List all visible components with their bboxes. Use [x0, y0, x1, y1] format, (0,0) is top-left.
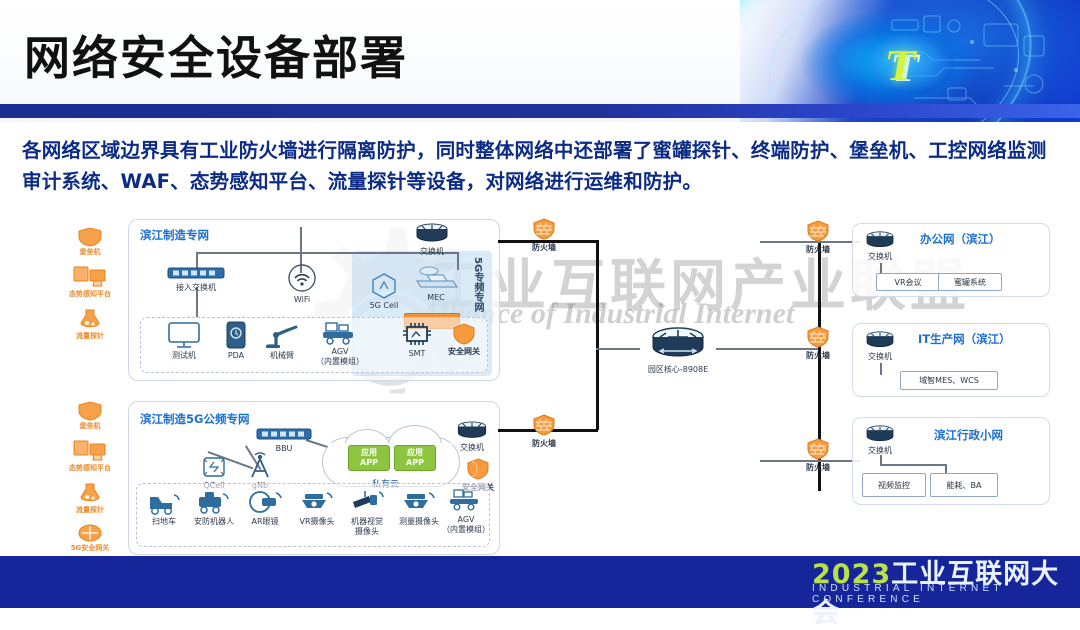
admin-switch: 交换机	[858, 425, 902, 456]
cell-icon	[371, 273, 397, 299]
endpoint-gateway-zone1-label: 安全网关	[448, 347, 480, 357]
gateway-orange-icon	[78, 523, 102, 543]
node-access-switch-label: 接入交换机	[176, 283, 216, 293]
probe-orange-icon	[78, 483, 102, 505]
it-item-0: 域智MES、WCS	[900, 371, 998, 390]
endpoint-ar-glasses: AR眼镜	[240, 489, 290, 527]
endpoint-agv-zone2: AGV （内置模组）	[440, 487, 492, 535]
core-router-icon	[650, 327, 706, 363]
endpoint-machine-vision-label: 机器视觉 摄像头	[351, 517, 383, 537]
firewall-office-label: 防火墙	[806, 245, 830, 255]
admin-item-1: 能耗、BA	[930, 473, 998, 497]
left-rail-top-label-2: 流量探针	[76, 332, 104, 341]
firewall-zone1-label: 防火墙	[532, 243, 556, 253]
core-router-label: 园区核心-8908E	[648, 365, 708, 375]
chip-icon	[401, 321, 433, 347]
node-5g-cell-label: 5G Cell	[370, 301, 399, 311]
footer-subtitle: INDUSTRIAL INTERNET CONFERENCE	[812, 583, 1080, 605]
endpoint-measure-camera: 测量摄像头	[392, 489, 446, 527]
router-icon	[415, 223, 449, 245]
firewall-admin-label: 防火墙	[806, 463, 830, 473]
left-rail-top-label-1: 态势感知平台	[69, 290, 111, 299]
left-rail-bottom-label-1: 态势感知平台	[69, 464, 111, 473]
firewall-icon	[531, 413, 557, 437]
office-switch-label: 交换机	[868, 252, 892, 262]
left-rail-top-label-0: 堡垒机	[80, 248, 101, 257]
probe-orange-icon	[78, 309, 102, 331]
circuit-decoration-icon	[884, 6, 1074, 118]
gateway-orange-icon	[465, 457, 491, 481]
trunk-vertical-left-lower	[596, 348, 599, 430]
sweeper-icon	[146, 489, 182, 515]
core-router: 园区核心-8908E	[640, 327, 716, 375]
router-icon	[456, 421, 488, 441]
endpoint-sweeper-label: 扫地车	[152, 517, 176, 527]
admin-item-0: 视频监控	[862, 473, 926, 497]
left-rail-top-item-2: 流量探针	[54, 309, 126, 341]
endpoint-agv-zone2-label: AGV （内置模组）	[442, 515, 490, 535]
endpoint-security-robot: 安防机器人	[188, 489, 240, 527]
endpoint-ar-glasses-label: AR眼镜	[251, 517, 278, 527]
node-zone1-switch-label: 交换机	[420, 247, 444, 257]
right-zone-it-title: IT生产网（滨江）	[918, 331, 1011, 347]
cloud-app-0: 应用 APP	[348, 445, 390, 471]
left-rail-bottom-label-2: 流量探针	[76, 506, 104, 515]
endpoint-robot-arm-label: 机械臂	[270, 351, 294, 361]
firewall-icon	[805, 219, 831, 243]
it-switch-drop	[880, 363, 882, 375]
firewall-it: 防火墙	[786, 325, 850, 361]
endpoint-robot-arm: 机械臂	[250, 321, 314, 361]
endpoint-pda-label: PDA	[228, 351, 244, 361]
endpoint-test-machine-label: 测试机	[172, 351, 196, 361]
firewall-zone2: 防火墙	[512, 413, 576, 449]
endpoint-sweeper: 扫地车	[140, 489, 188, 527]
firewall-zone2-label: 防火墙	[532, 439, 556, 449]
agv-icon	[446, 487, 486, 513]
office-switch: 交换机	[858, 231, 902, 262]
office-item-0: VR会议	[876, 273, 940, 291]
shield-orange-icon	[77, 227, 103, 247]
office-item-1: 蜜罐系统	[938, 273, 1002, 291]
left-rail-bottom-item-0: 堡垒机	[54, 401, 126, 431]
lead-paragraph: 各网络区域边界具有工业防火墙进行隔离防护，同时整体网络中还部署了蜜罐探针、终端防…	[22, 135, 1057, 197]
right-zone-office-title: 办公网（滨江）	[920, 231, 1001, 247]
node-zone2-switch-label: 交换机	[460, 443, 484, 453]
left-rail-top-item-1: 态势感知平台	[54, 265, 126, 299]
monitor-orange-icon	[73, 265, 107, 289]
it-switch: 交换机	[858, 331, 902, 362]
t-logo-orb	[868, 34, 954, 94]
router-icon	[865, 331, 895, 350]
firewall-it-label: 防火墙	[806, 351, 830, 361]
firewall-icon	[531, 217, 557, 241]
monitor-icon	[167, 321, 201, 349]
wifi-icon	[287, 263, 317, 293]
left-rail-bottom-label-0: 堡垒机	[80, 422, 101, 431]
left-rail-bottom-item-3: 5G安全网关	[54, 523, 126, 553]
node-wifi: WiFi	[270, 263, 334, 305]
server-icon	[413, 265, 459, 291]
node-mec-label: MEC	[427, 293, 445, 303]
endpoint-vr-camera: VR摄像头	[292, 489, 342, 527]
vr-camera-icon	[299, 489, 335, 515]
slide-header: T T 网络安全设备部署	[0, 0, 1080, 122]
node-zone1-switch: 交换机	[400, 223, 464, 257]
router-icon	[865, 231, 895, 250]
cloud-app-1: 应用 APP	[394, 445, 436, 471]
firewall-icon	[805, 325, 831, 349]
agv-icon	[320, 319, 360, 345]
trunk-vertical-left	[596, 240, 599, 348]
left-rail-bottom-label-3: 5G安全网关	[71, 544, 110, 553]
firewall-icon	[805, 437, 831, 461]
endpoint-smt-label: SMT	[409, 349, 426, 359]
antenna-icon	[246, 451, 274, 479]
it-switch-label: 交换机	[868, 352, 892, 362]
network-diagram: 工业互联网产业联盟 Alliance of Industrial Interne…	[0, 205, 1080, 555]
router-icon	[865, 425, 895, 444]
machine-vision-icon	[349, 489, 385, 515]
endpoint-agv-zone1: AGV （内置模组）	[308, 319, 372, 367]
gateway-orange-icon	[452, 323, 476, 345]
qcell-icon	[201, 455, 227, 479]
right-zone-admin-title: 滨江行政小网	[934, 427, 1003, 443]
switch-stack-icon	[167, 265, 225, 281]
firewall-admin: 防火墙	[786, 437, 850, 473]
page-title: 网络安全设备部署	[24, 22, 408, 88]
zone-manufacturing-title: 滨江制造专网	[140, 227, 209, 243]
firewall-office: 防火墙	[786, 219, 850, 255]
node-zone2-switch: 交换机	[440, 421, 504, 453]
left-rail-bottom-item-1: 态势感知平台	[54, 439, 126, 473]
header-divider	[0, 104, 1080, 118]
left-rail-top: 堡垒机	[54, 227, 126, 257]
node-mec: MEC	[404, 265, 468, 303]
node-access-switch: 接入交换机	[164, 265, 228, 293]
zone-5g-title: 滨江制造5G公频专网	[140, 411, 249, 427]
zone-manufacturing-side-label: 5G专频专网	[470, 257, 485, 312]
t-logo-icon: T	[882, 40, 920, 91]
switch-stack-icon	[256, 427, 312, 442]
ar-glasses-icon	[246, 489, 284, 515]
shield-orange-icon	[77, 401, 103, 421]
admin-bus	[880, 464, 946, 466]
left-rail-bottom-item-2: 流量探针	[54, 483, 126, 515]
endpoint-vr-camera-label: VR摄像头	[299, 517, 334, 527]
endpoint-measure-camera-label: 测量摄像头	[399, 517, 439, 527]
endpoint-security-robot-label: 安防机器人	[194, 517, 234, 527]
trunk-core-left	[596, 348, 640, 350]
security-robot-icon	[195, 489, 233, 515]
endpoint-machine-vision: 机器视觉 摄像头	[340, 489, 394, 537]
monitor-orange-icon	[73, 439, 107, 463]
endpoint-agv-zone1-label: AGV （内置模组）	[316, 347, 364, 367]
endpoint-gateway-zone1: 安全网关	[432, 323, 496, 357]
pda-icon	[226, 321, 246, 349]
measure-camera-icon	[401, 489, 437, 515]
firewall-zone1: 防火墙	[512, 217, 576, 253]
node-wifi-label: WiFi	[294, 295, 310, 305]
robot-arm-icon	[264, 321, 300, 349]
t-logo-shadow: T	[888, 44, 923, 91]
